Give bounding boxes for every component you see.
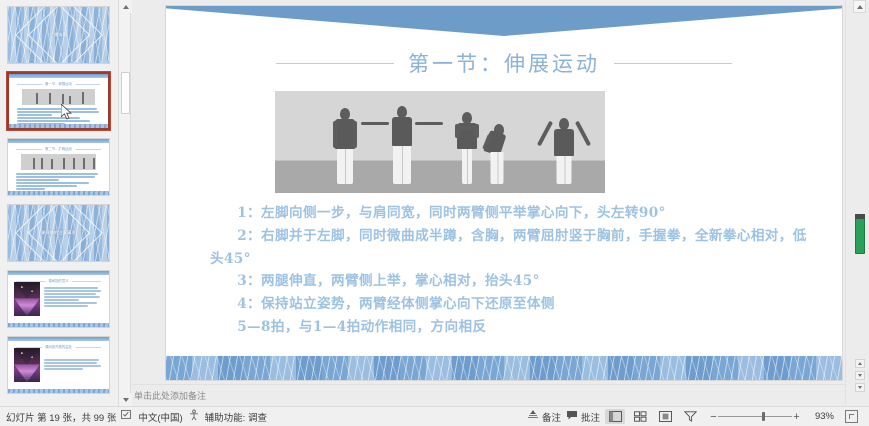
slide-thumbnail-3[interactable]: 第二节：扩胸运动: [7, 138, 110, 196]
slide-thumbnail-pane[interactable]: 广播体操 第一节：伸展运动: [0, 0, 118, 406]
slide-thumbnail-4[interactable]: 课间操的注意事项: [7, 204, 110, 262]
accessibility-icon[interactable]: [188, 409, 200, 424]
notes-placeholder[interactable]: 单击此处添加备注: [134, 389, 206, 402]
slide-thumbnail-3-photo: [21, 154, 96, 170]
slide-editor-area: 第一节：伸展运动: [132, 0, 845, 406]
title-rule-right: [614, 63, 732, 64]
scroll-down-button[interactable]: [119, 393, 132, 406]
normal-view-icon: [609, 411, 622, 422]
slide-bottom-band-decoration: [166, 356, 842, 380]
zoom-slider-knob[interactable]: [762, 412, 765, 421]
body-line-3: 3：两腿伸直，两臂侧上举，掌心相对，抬头45°: [210, 270, 816, 293]
slide-body-text[interactable]: 1：左脚向侧一步，与肩同宽，同时两臂侧平举掌心向下，头左转90° 2：右脚并于左…: [210, 202, 816, 339]
slide-thumbnail-6-text: [44, 359, 103, 371]
spell-check-icon[interactable]: [121, 410, 133, 424]
comments-button[interactable]: 批注: [566, 410, 600, 424]
slide-thumbnail-6-photo: [14, 348, 40, 382]
accessibility-label[interactable]: 辅助功能: 调查: [205, 410, 267, 424]
slide-thumbnail-1[interactable]: 广播体操: [7, 6, 110, 64]
normal-view-button[interactable]: [605, 409, 625, 424]
slide-bottom-band: [8, 389, 109, 393]
slide-title-row: 第一节：伸展运动: [166, 46, 842, 80]
scrollbar-track[interactable]: [853, 14, 866, 366]
slide-canvas[interactable]: 第一节：伸展运动: [166, 6, 842, 380]
scrollbar-thumb[interactable]: [855, 214, 865, 254]
body-line-1: 1：左脚向侧一步，与肩同宽，同时两臂侧平举掌心向下，头左转90°: [210, 202, 816, 225]
slide-area-scrollbar[interactable]: [845, 0, 869, 406]
powerpoint-window: 广播体操 第一节：伸展运动: [0, 0, 869, 426]
notes-pane[interactable]: 单击此处添加备注: [132, 384, 845, 406]
slide-thumbnail-2-header: 第一节：伸展运动: [17, 82, 100, 86]
title-rule-left: [276, 63, 394, 64]
zoom-slider[interactable]: − +: [709, 411, 801, 423]
comment-bubble-icon: [566, 410, 578, 424]
scroll-up-button[interactable]: [119, 0, 132, 13]
figure-pose-5: [549, 98, 579, 184]
slide-thumbnail-6[interactable]: 课间操开展的益处: [7, 336, 110, 394]
zoom-out-button[interactable]: −: [709, 411, 718, 423]
chevron-down-icon: [858, 374, 862, 377]
slide-bottom-band: [8, 323, 109, 327]
status-bar: 幻灯片 第 19 张，共 99 张 中文(中国) 辅助功能: 调查: [0, 406, 869, 426]
chevron-up-icon: [123, 5, 129, 9]
zoom-level-label[interactable]: 93%: [810, 411, 834, 422]
slide-thumbnail-5-photo: [14, 282, 40, 316]
fit-slide-to-window-button[interactable]: [845, 410, 858, 423]
chevron-down-icon: [858, 386, 862, 389]
slide-sorter-view-button[interactable]: [630, 409, 650, 424]
scroll-up-button-right[interactable]: [853, 0, 866, 13]
slide-top-chevron-decoration: [166, 6, 842, 36]
chevron-up-icon: [858, 362, 862, 365]
thumbnail-pane-scrollbar[interactable]: [118, 0, 131, 406]
slide-thumbnail-2-photo: [22, 89, 95, 105]
slide-thumbnail-6-caption: 课间操开展的益处: [42, 344, 75, 349]
figure-pose-1: [331, 108, 359, 184]
slide-thumbnail-2[interactable]: 第一节：伸展运动: [7, 72, 110, 130]
figure-pose-4: [483, 122, 509, 184]
slide-title[interactable]: 第一节：伸展运动: [408, 48, 600, 78]
slide-top-band: [8, 139, 109, 143]
slide-top-band: [9, 74, 108, 78]
slide-top-band: [8, 271, 109, 275]
slide-sorter-icon: [634, 411, 647, 422]
slide-thumbnail-3-caption: 第二节：扩胸运动: [42, 146, 75, 151]
status-left-group: 幻灯片 第 19 张，共 99 张 中文(中国) 辅助功能: 调查: [0, 409, 273, 424]
body-line-2: 2：右脚并于左脚，同时微曲成半蹲，含胸，两臂屈肘竖于胸前，手握拳，全新拳心相对，…: [210, 225, 816, 271]
slideshow-view-button[interactable]: [680, 409, 700, 424]
zoom-in-button[interactable]: +: [792, 411, 801, 423]
notes-icon: [527, 410, 539, 424]
reading-view-button[interactable]: [655, 409, 675, 424]
notes-button[interactable]: 备注: [527, 410, 561, 424]
chevron-down-icon: [123, 398, 129, 402]
body-line-5: 5—8拍，与1—4拍动作相同，方向相反: [210, 316, 816, 339]
comments-button-label: 批注: [581, 410, 600, 424]
status-right-group: 备注 批注: [521, 409, 869, 424]
previous-slide-button[interactable]: [855, 359, 865, 368]
thumbnail-scroll-thumb[interactable]: [121, 72, 130, 114]
exercise-demo-image[interactable]: [275, 91, 605, 193]
slide-count-label[interactable]: 幻灯片 第 19 张，共 99 张: [6, 410, 116, 424]
body-line-4: 4：保持站立姿势，两臂经体侧掌心向下还原至体侧: [210, 293, 816, 316]
slide-thumbnail-3-text: [16, 173, 101, 191]
slide-thumbnail-5-caption: 课间操的意义: [45, 278, 71, 283]
slide-top-band: [8, 337, 109, 341]
slide-thumbnail-2-caption: 第一节：伸展运动: [42, 81, 75, 86]
slide-thumbnail-5-text: [44, 287, 103, 308]
slideshow-icon: [684, 411, 697, 422]
language-label[interactable]: 中文(中国): [138, 410, 182, 424]
figure-pose-2: [388, 106, 416, 184]
slide-thumbnail-1-caption: 广播体操: [8, 32, 109, 38]
slide-thumbnail-3-header: 第二节：扩胸运动: [16, 147, 101, 151]
slide-thumbnail-5[interactable]: 课间操的意义: [7, 270, 110, 328]
figure-pose-3: [455, 112, 479, 184]
scroll-down-button-right[interactable]: [855, 383, 865, 392]
slide-bottom-band: [8, 191, 109, 195]
chevron-up-icon: [857, 5, 863, 9]
slide-thumbnail-4-caption: 课间操的注意事项: [8, 230, 109, 236]
notes-button-label: 备注: [542, 410, 561, 424]
next-slide-button[interactable]: [855, 371, 865, 380]
slide-bottom-band: [9, 124, 108, 128]
reading-view-icon: [659, 411, 672, 422]
zoom-slider-track[interactable]: [718, 416, 792, 417]
